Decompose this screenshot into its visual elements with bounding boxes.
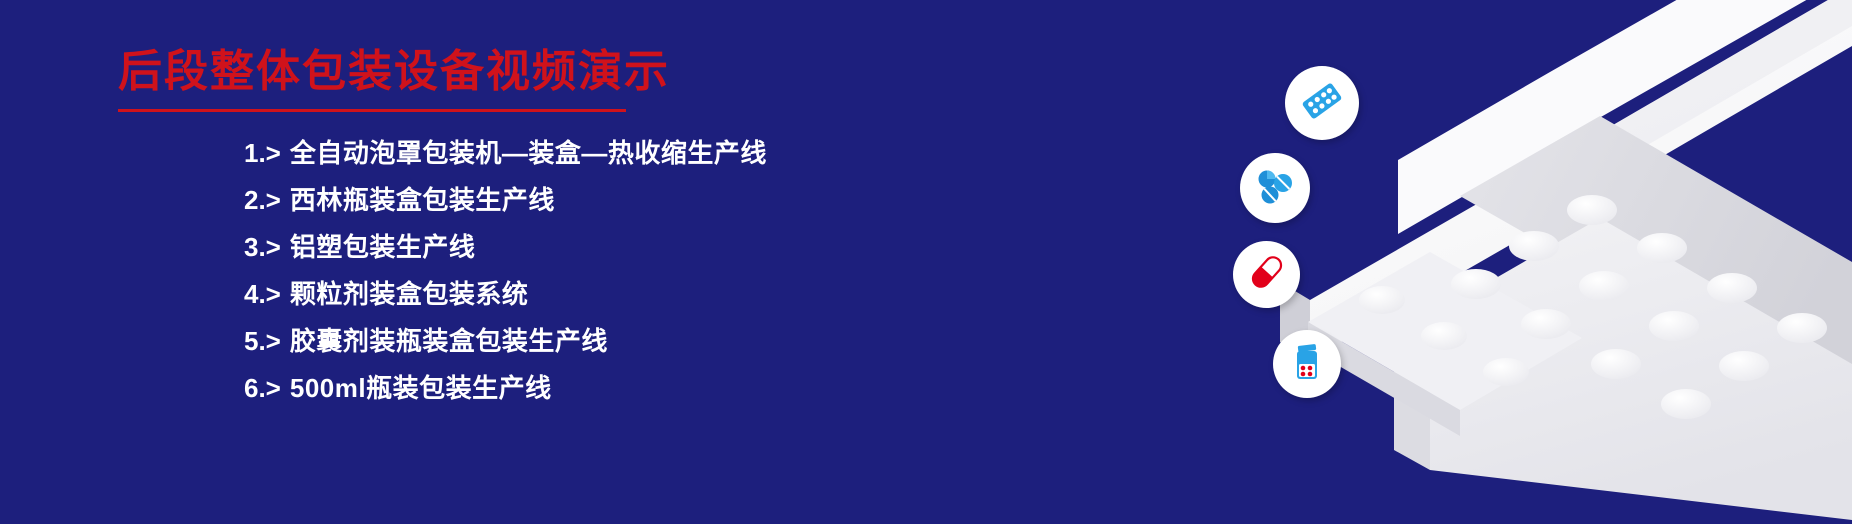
page-title: 后段整体包装设备视频演示 — [118, 44, 670, 99]
list-item[interactable]: 4.> 颗粒剂装盒包装系统 — [244, 274, 984, 321]
list-item[interactable]: 1.> 全自动泡罩包装机—装盒—热收缩生产线 — [244, 133, 984, 180]
list-item-index: 1.> — [244, 138, 281, 169]
title-underline — [118, 109, 626, 112]
list-item[interactable]: 5.> 胶囊剂装瓶装盒包装生产线 — [244, 321, 984, 368]
list-item-label: 全自动泡罩包装机—装盒—热收缩生产线 — [290, 133, 767, 170]
text-block: 后段整体包装设备视频演示 1.> 全自动泡罩包装机—装盒—热收缩生产线 2.> … — [0, 0, 1000, 524]
list-item-label: 胶囊剂装瓶装盒包装生产线 — [290, 321, 608, 358]
promo-banner: 后段整体包装设备视频演示 1.> 全自动泡罩包装机—装盒—热收缩生产线 2.> … — [0, 0, 1852, 524]
list-item[interactable]: 6.> 500ml瓶装包装生产线 — [244, 368, 984, 415]
list-item-index: 4.> — [244, 279, 281, 310]
list-item-label: 500ml瓶装包装生产线 — [290, 368, 552, 405]
list-item-index: 2.> — [244, 185, 281, 216]
list-item-index: 6.> — [244, 373, 281, 404]
list-item[interactable]: 3.> 铝塑包装生产线 — [244, 227, 984, 274]
pill-bottle-icon — [1287, 342, 1327, 387]
blister-pack-icon-badge — [1285, 66, 1359, 140]
tablets-icon-badge — [1240, 153, 1310, 223]
list-item-label: 颗粒剂装盒包装系统 — [290, 274, 529, 311]
list-item-label: 铝塑包装生产线 — [290, 227, 476, 264]
list-item-label: 西林瓶装盒包装生产线 — [290, 180, 555, 217]
list-item-index: 3.> — [244, 232, 281, 263]
list-item[interactable]: 2.> 西林瓶装盒包装生产线 — [244, 180, 984, 227]
pill-bottle-icon-badge — [1273, 330, 1341, 398]
capsule-icon-badge — [1233, 241, 1300, 308]
tablets-icon — [1254, 165, 1296, 212]
capsule-icon — [1247, 252, 1287, 297]
video-list: 1.> 全自动泡罩包装机—装盒—热收缩生产线 2.> 西林瓶装盒包装生产线 3.… — [244, 133, 984, 415]
blister-pack-icon — [1299, 78, 1345, 129]
list-item-index: 5.> — [244, 326, 281, 357]
